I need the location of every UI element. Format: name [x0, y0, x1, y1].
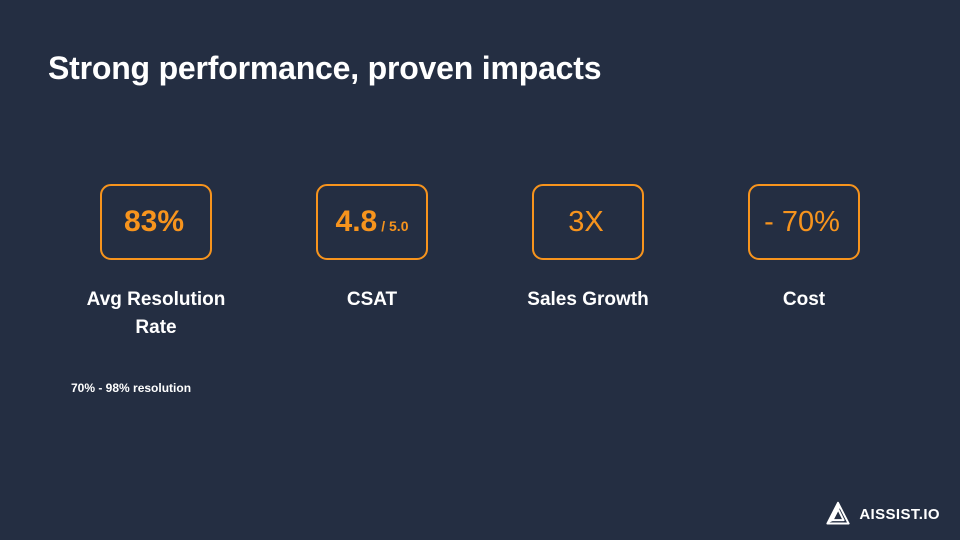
metric-value-box: - 70%: [748, 184, 860, 260]
metric-value-wrap: 83%: [124, 207, 188, 237]
metric-label: Sales Growth: [480, 286, 696, 314]
metric-value-box: 4.8 / 5.0: [316, 184, 428, 260]
triangle-logo-icon: [824, 500, 852, 528]
metric-value: 83%: [124, 207, 184, 237]
brand-logo: AISSIST.IO: [824, 500, 940, 528]
metric-value-wrap: 4.8 / 5.0: [336, 207, 409, 237]
metric-card-sales-growth: 3X Sales Growth: [480, 184, 696, 314]
page-title: Strong performance, proven impacts: [48, 50, 601, 87]
metric-value-box: 3X: [532, 184, 644, 260]
metric-card-csat: 4.8 / 5.0 CSAT: [264, 184, 480, 314]
metric-value: 3X: [568, 208, 603, 237]
slide-canvas: Strong performance, proven impacts 83% A…: [0, 0, 960, 540]
brand-name: AISSIST.IO: [859, 506, 940, 523]
metric-value-box: 83%: [100, 184, 212, 260]
metric-value-suffix: / 5.0: [381, 219, 408, 233]
metric-card-cost: - 70% Cost: [696, 184, 912, 314]
metric-value-wrap: - 70%: [764, 208, 844, 237]
footnote-text: 70% - 98% resolution: [71, 381, 191, 395]
metric-value: - 70%: [764, 208, 840, 237]
metric-label: Avg Resolution Rate: [48, 286, 264, 341]
metric-label: CSAT: [264, 286, 480, 314]
metrics-row: 83% Avg Resolution Rate 4.8 / 5.0 CSAT 3…: [48, 184, 912, 364]
metric-value-wrap: 3X: [568, 208, 607, 237]
metric-value: 4.8: [336, 207, 378, 237]
metric-card-avg-resolution-rate: 83% Avg Resolution Rate: [48, 184, 264, 341]
metric-label: Cost: [696, 286, 912, 314]
